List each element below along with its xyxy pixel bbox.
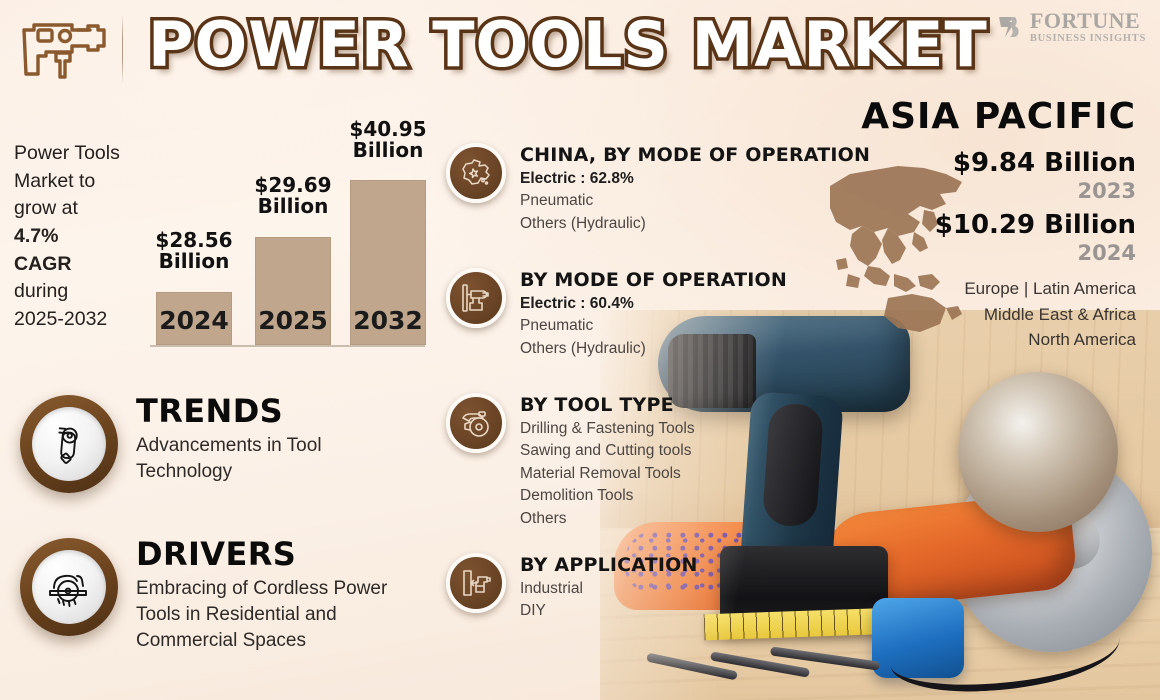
highlight-title: TRENDS bbox=[136, 395, 406, 429]
bar-year-label: 2024 bbox=[156, 306, 232, 335]
summary-line-1: Power Tools bbox=[14, 142, 120, 164]
highlight-body: DRIVERS Embracing of Cordless Power Tool… bbox=[136, 538, 406, 654]
logo-name: FORTUNE bbox=[1030, 10, 1146, 32]
segment-title: CHINA, BY MODE OF OPERATION bbox=[520, 144, 870, 166]
region-title: ASIA PACIFIC bbox=[861, 96, 1136, 137]
region-value-2024: $10.29 Billion bbox=[935, 210, 1136, 240]
segment-item: Material Removal Tools bbox=[520, 463, 695, 485]
highlight-drivers: DRIVERS Embracing of Cordless Power Tool… bbox=[20, 538, 406, 654]
power-drill-icon bbox=[446, 268, 506, 328]
bar-year-label: 2032 bbox=[350, 306, 426, 335]
segment-tool-type: BY TOOL TYPE Drilling & Fastening Tools … bbox=[446, 393, 695, 530]
segment-item: Others bbox=[520, 508, 695, 530]
segment-item: Pneumatic bbox=[520, 190, 870, 212]
nail-gun-application-icon bbox=[446, 553, 506, 613]
circular-saw-circle-icon bbox=[20, 538, 118, 636]
segment-title: BY MODE OF OPERATION bbox=[520, 269, 787, 291]
region-list-item: North America bbox=[964, 327, 1136, 353]
segment-body: BY MODE OF OPERATION Electric : 60.4% Pn… bbox=[520, 268, 787, 360]
cagr-value: 4.7% bbox=[14, 225, 58, 247]
bar-value-unit: Billion bbox=[159, 249, 230, 273]
region-list-item: Middle East & Africa bbox=[964, 302, 1136, 328]
cagr-label: CAGR bbox=[14, 253, 71, 275]
segment-body: CHINA, BY MODE OF OPERATION Electric : 6… bbox=[520, 143, 870, 235]
forecast-period: 2025-2032 bbox=[14, 308, 107, 330]
summary-line-2: Market to bbox=[14, 170, 95, 192]
chart-baseline bbox=[150, 345, 425, 347]
bar-value-label: $40.95 Billion bbox=[338, 119, 438, 161]
bar-year-label: 2025 bbox=[255, 306, 331, 335]
highlight-title: DRIVERS bbox=[136, 538, 406, 572]
bar-value-label: $29.69 Billion bbox=[243, 175, 343, 217]
rotary-hammer-drill-icon bbox=[16, 16, 112, 87]
bar-2025: 2025 bbox=[255, 237, 331, 345]
region-year-2024: 2024 bbox=[1078, 241, 1136, 265]
market-size-bar-chart: 2024 $28.56 Billion 2025 $29.69 Billion … bbox=[150, 120, 425, 350]
summary-line-6: during bbox=[14, 280, 68, 302]
segment-body: BY TOOL TYPE Drilling & Fastening Tools … bbox=[520, 393, 695, 530]
segment-title: BY TOOL TYPE bbox=[520, 394, 695, 416]
segment-item: Others (Hydraulic) bbox=[520, 213, 870, 235]
segment-item: Demolition Tools bbox=[520, 485, 695, 507]
segment-application: BY APPLICATION Industrial DIY bbox=[446, 553, 698, 623]
segment-title: BY APPLICATION bbox=[520, 554, 698, 576]
angle-grinder-icon bbox=[446, 393, 506, 453]
segment-china-mode-of-operation: CHINA, BY MODE OF OPERATION Electric : 6… bbox=[446, 143, 870, 235]
highlight-text: Embracing of Cordless Power Tools in Res… bbox=[136, 576, 406, 655]
summary-line-3: grow at bbox=[14, 197, 78, 219]
segment-item: DIY bbox=[520, 600, 698, 622]
market-summary-text: Power Tools Market to grow at 4.7% CAGR … bbox=[14, 140, 144, 334]
region-value-2023: $9.84 Billion bbox=[953, 148, 1136, 178]
segment-item: Sawing and Cutting tools bbox=[520, 440, 695, 462]
segment-item: Others (Hydraulic) bbox=[520, 338, 787, 360]
circular-saw-blade-small bbox=[958, 372, 1118, 532]
other-regions-list: Europe | Latin America Middle East & Afr… bbox=[964, 276, 1136, 353]
highlight-text: Advancements in Tool Technology bbox=[136, 433, 406, 485]
angle-grinder-circle-icon bbox=[20, 395, 118, 493]
bar-value-unit: Billion bbox=[258, 194, 329, 218]
icon-inner-disc bbox=[32, 550, 106, 624]
bar-value-unit: Billion bbox=[353, 138, 424, 162]
segment-item: Industrial bbox=[520, 578, 698, 600]
highlight-body: TRENDS Advancements in Tool Technology bbox=[136, 395, 406, 485]
infographic-canvas: POWER TOOLS MARKET FORTUNE BUSINESS INSI… bbox=[0, 0, 1160, 700]
segment-item: Electric : 62.8% bbox=[520, 168, 870, 190]
segment-item: Pneumatic bbox=[520, 315, 787, 337]
page-title: POWER TOOLS MARKET bbox=[148, 8, 988, 81]
bar-2024: 2024 bbox=[156, 292, 232, 345]
segment-item: Drilling & Fastening Tools bbox=[520, 418, 695, 440]
drill-grip bbox=[762, 402, 824, 527]
icon-inner-disc bbox=[32, 407, 106, 481]
highlight-trends: TRENDS Advancements in Tool Technology bbox=[20, 395, 406, 493]
china-map-icon bbox=[446, 143, 506, 203]
segment-item: Electric : 60.4% bbox=[520, 293, 787, 315]
segment-body: BY APPLICATION Industrial DIY bbox=[520, 553, 698, 623]
region-list-item: Europe | Latin America bbox=[964, 276, 1136, 302]
region-year-2023: 2023 bbox=[1078, 179, 1136, 203]
fortune-business-insights-logo-mark bbox=[997, 14, 1023, 40]
bar-2032: 2032 bbox=[350, 180, 426, 345]
segment-mode-of-operation: BY MODE OF OPERATION Electric : 60.4% Pn… bbox=[446, 268, 787, 360]
bar-value-label: $28.56 Billion bbox=[144, 230, 244, 272]
logo-tagline: BUSINESS INSIGHTS bbox=[1030, 34, 1146, 45]
header-divider bbox=[122, 14, 123, 84]
brand-logo: FORTUNE BUSINESS INSIGHTS bbox=[997, 10, 1146, 45]
